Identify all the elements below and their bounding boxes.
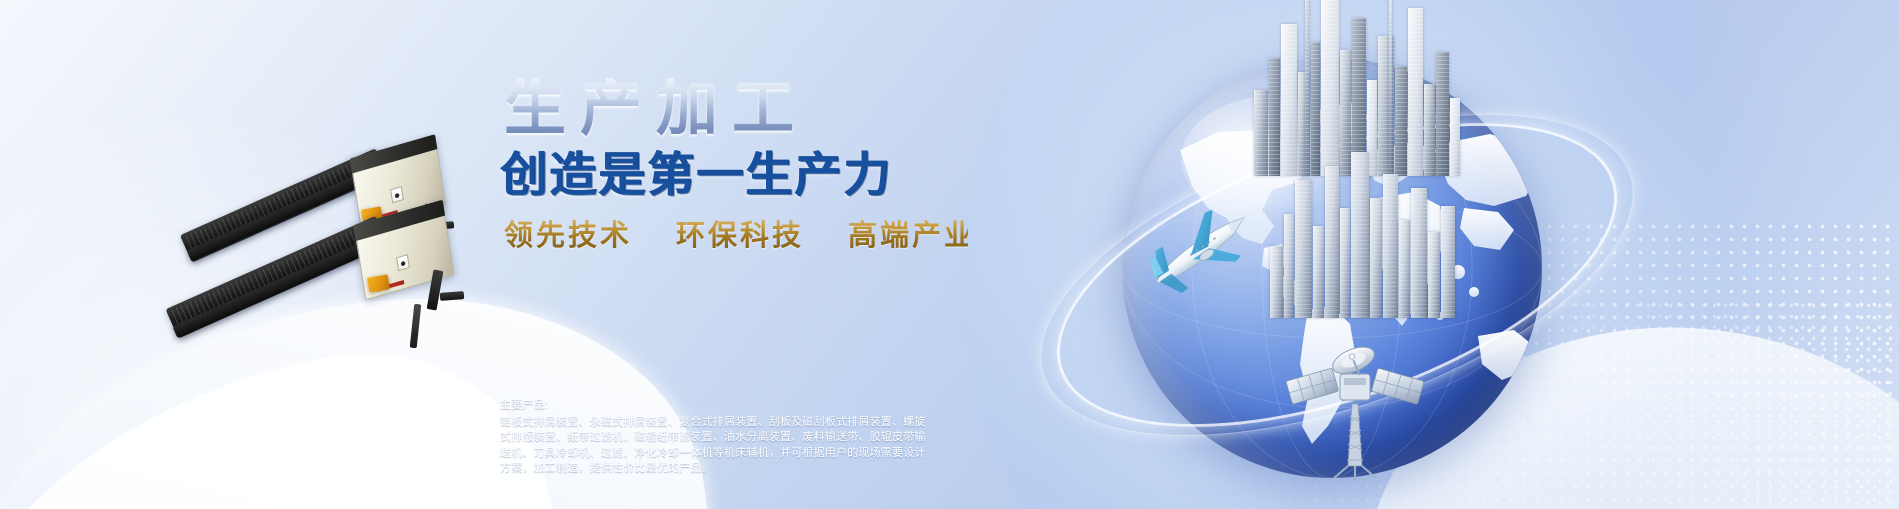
page-title: 生产加工 (504, 78, 968, 140)
conveyor-leg (410, 304, 422, 348)
product-description-body: 链板式排屑装置、永磁式排屑装置、复合式排屑装置、刮板及磁刮板式排屑装置、螺旋式排… (500, 415, 930, 477)
city-skyline-front (1268, 148, 1464, 318)
tagline-item-2: 环保科技 (676, 212, 804, 254)
conveyor-belt-lower (172, 236, 380, 338)
tagline-item-3: 高端产业 (848, 212, 976, 254)
tagline-item-1: 领先技术 (504, 212, 632, 254)
product-description-label: 主要产品: (500, 398, 930, 414)
airplane-icon (1134, 196, 1266, 308)
tagline-list: 领先技术 环保科技 高端产业 (504, 212, 968, 254)
chip-conveyor-machine-2 (172, 196, 522, 356)
satellite-icon (1280, 330, 1430, 480)
subtitle: 创造是第一生产力 (500, 150, 968, 200)
headline-block: 生产加工 创造是第一生产力 领先技术 环保科技 高端产业 (498, 78, 968, 254)
promo-banner: 生产加工 创造是第一生产力 领先技术 环保科技 高端产业 主要产品: 链板式排屑… (0, 0, 1899, 509)
product-description: 主要产品: 链板式排屑装置、永磁式排屑装置、复合式排屑装置、刮板及磁刮板式排屑装… (500, 398, 930, 477)
conveyor-foot-2 (440, 291, 464, 301)
